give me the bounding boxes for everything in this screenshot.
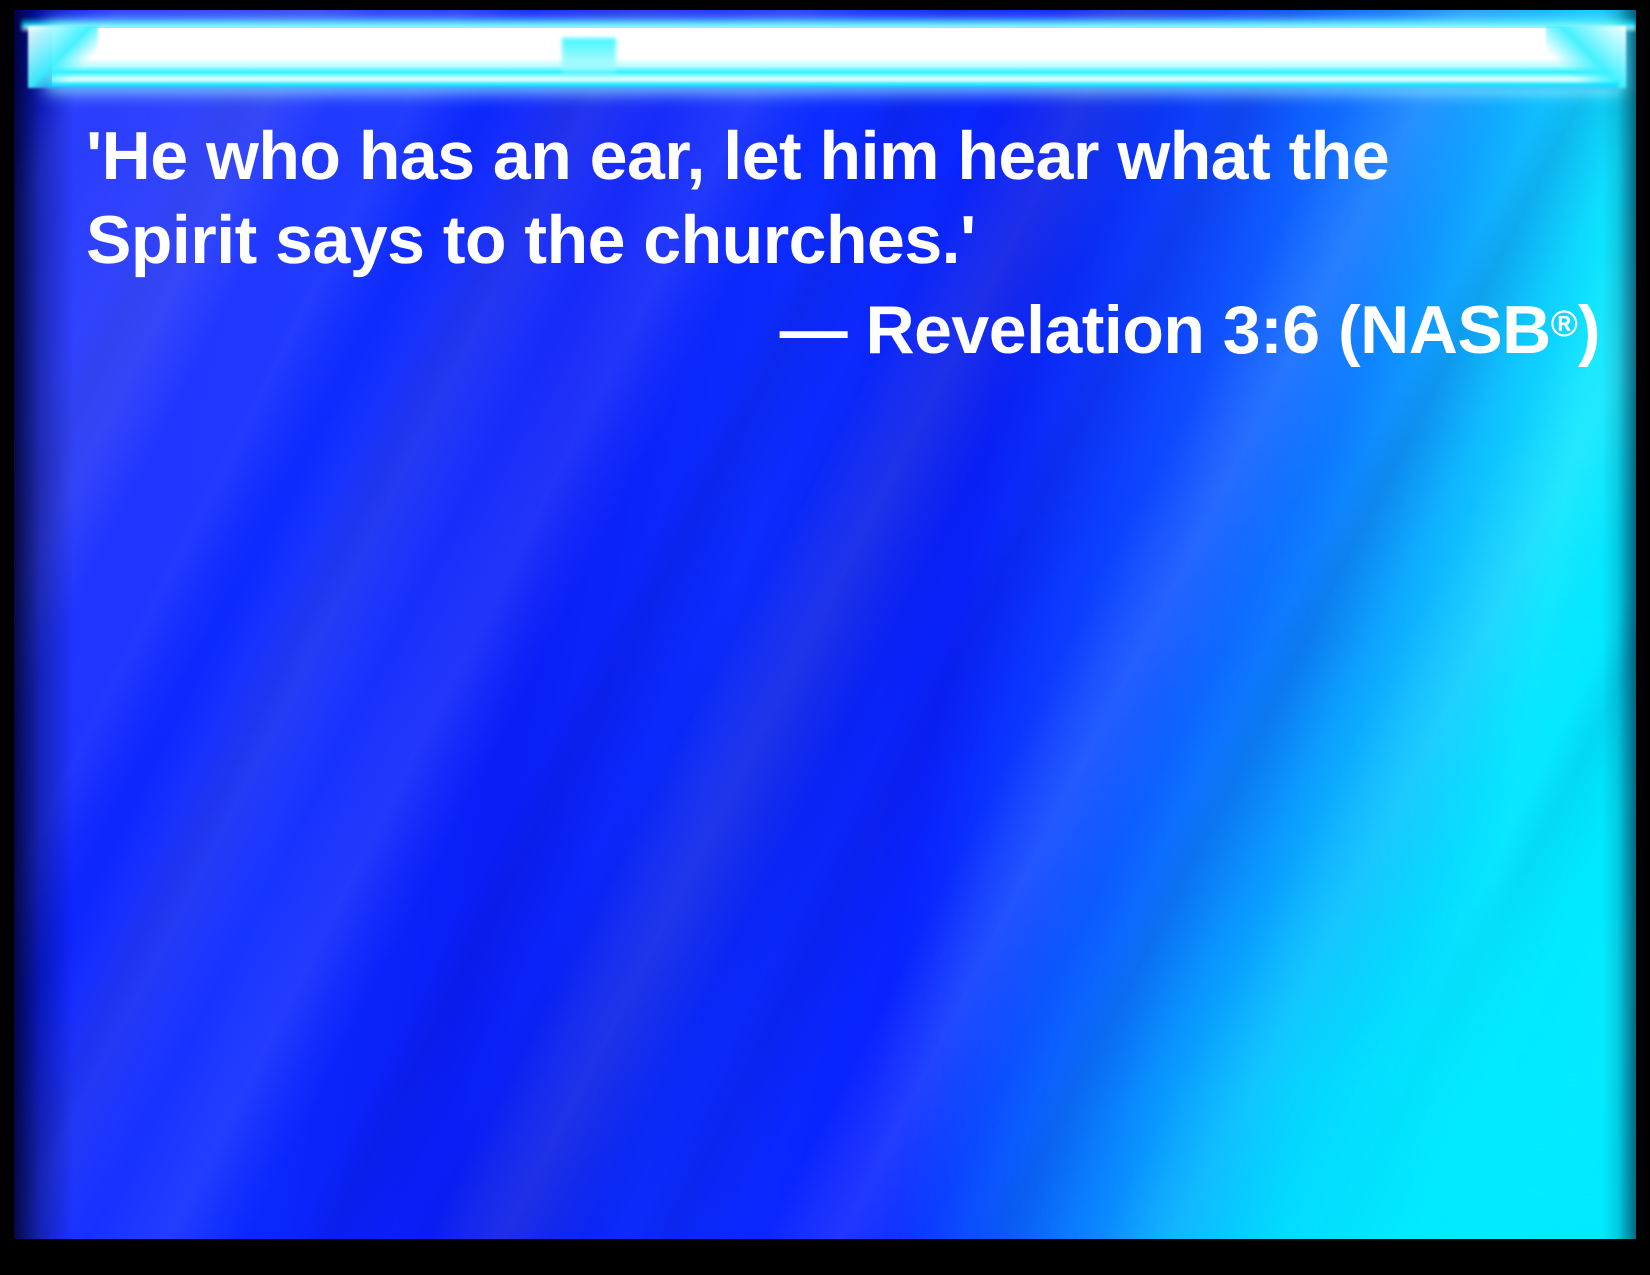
top-banner-notch: [562, 38, 616, 82]
top-banner-left-bevel: [28, 26, 98, 88]
background-left-vignette: [14, 10, 74, 1239]
verse-reference-text: — Revelation 3:6 (NASB: [780, 292, 1551, 368]
verse-line-2: Spirit says to the churches.': [86, 198, 1608, 282]
top-banner-white-bar: [52, 28, 1616, 86]
top-banner: [14, 10, 1636, 92]
verse-text-block: 'He who has an ear, let him hear what th…: [86, 114, 1608, 372]
verse-reference-close-paren: ): [1578, 292, 1600, 368]
verse-slide: 'He who has an ear, let him hear what th…: [0, 0, 1650, 1275]
top-banner-right-bevel: [1546, 26, 1626, 88]
registered-trademark-icon: ®: [1551, 303, 1578, 344]
verse-line-1: 'He who has an ear, let him hear what th…: [86, 114, 1608, 198]
verse-reference: — Revelation 3:6 (NASB®): [86, 288, 1608, 372]
slide-canvas: 'He who has an ear, let him hear what th…: [14, 10, 1636, 1239]
top-banner-underglow: [48, 82, 1618, 92]
